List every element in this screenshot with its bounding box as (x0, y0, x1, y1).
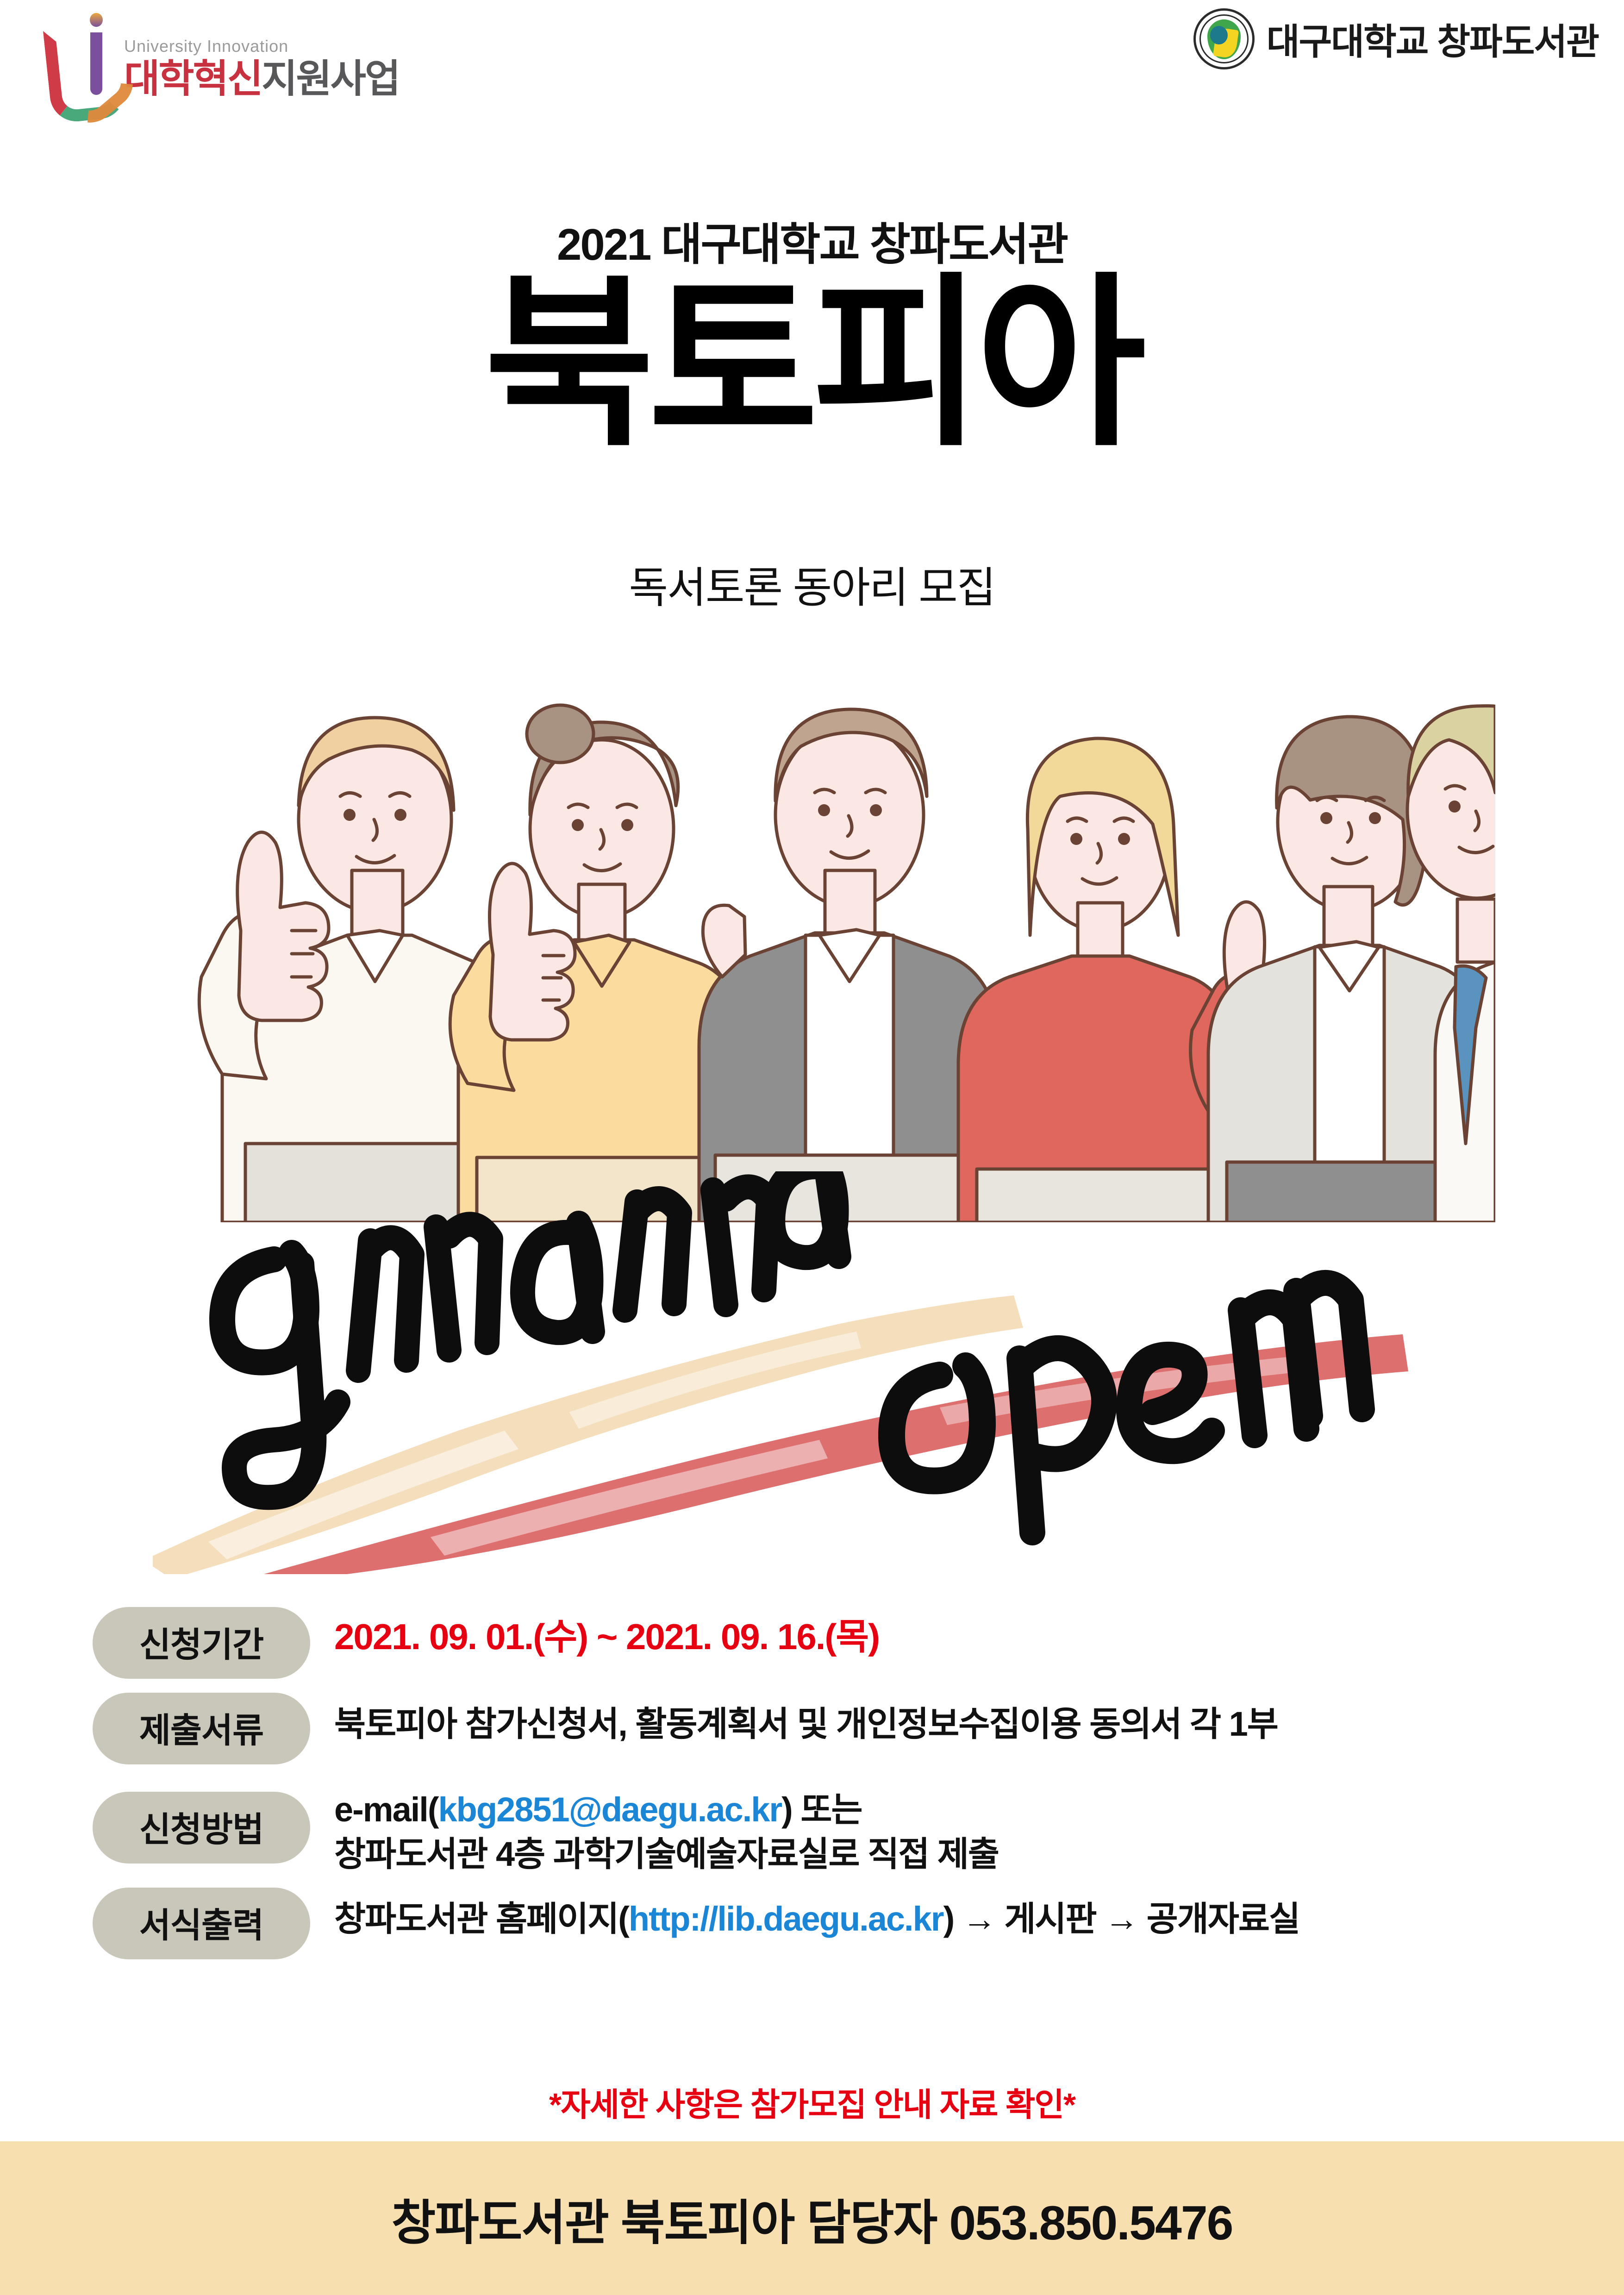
page-title: 북토피아 (0, 264, 1624, 464)
library-name-label: 대구대학교 창파도서관 (1267, 13, 1599, 65)
url-suffix: ) → 게시판 → 공개자료실 (943, 1900, 1300, 1938)
label-form-download: 서식출력 (93, 1888, 310, 1959)
contact-footer-bar: 창파도서관 북토피아 담당자 053.850.5476 (0, 2141, 1624, 2295)
logo-bar: University Innovation 대학혁신지원사업 대구대학교 창파도… (0, 0, 1624, 134)
info-row-how-to-apply: 신청방법 e-mail(kbg2851@daegu.ac.kr) 또는 창파도서… (93, 1778, 1551, 1876)
logo-korean-gray: 지원사업 (262, 57, 399, 100)
email-prefix: e-mail( (334, 1790, 438, 1829)
homepage-link[interactable]: http://lib.daegu.ac.kr (629, 1900, 943, 1938)
value-line-1: e-mail(kbg2851@daegu.ac.kr) 또는 (334, 1788, 1551, 1832)
grand-open-artwork (153, 1171, 1495, 1574)
page-subtitle: 독서토론 동아리 모집 (0, 553, 1624, 615)
email-suffix: ) 또는 (781, 1790, 862, 1829)
university-innovation-text: University Innovation 대학혁신지원사업 (124, 38, 399, 102)
people-illustration (153, 611, 1495, 1222)
logo-english-label: University Innovation (124, 38, 399, 55)
university-innovation-logo: University Innovation 대학혁신지원사업 (44, 9, 399, 102)
value-line: 북토피아 참가신청서, 활동계획서 및 개인정보수집이용 동의서 각 1부 (334, 1702, 1551, 1746)
info-table: 신청기간 2021. 09. 01.(수) ~ 2021. 09. 16.(목)… (93, 1604, 1551, 1973)
url-prefix: 창파도서관 홈페이지( (334, 1900, 629, 1938)
library-logo: 대구대학교 창파도서관 (1193, 8, 1599, 69)
info-row-required-documents: 제출서류 북토피아 참가신청서, 활동계획서 및 개인정보수집이용 동의서 각 … (93, 1693, 1551, 1764)
info-row-form-download: 서식출력 창파도서관 홈페이지(http://lib.daegu.ac.kr) … (93, 1888, 1551, 1959)
logo-korean-label: 대학혁신지원사업 (124, 59, 399, 98)
value-form-download: 창파도서관 홈페이지(http://lib.daegu.ac.kr) → 게시판… (334, 1888, 1551, 1941)
label-application-period: 신청기간 (93, 1607, 310, 1679)
additional-note: *자세한 사항은 참가모집 안내 자료 확인* (0, 2079, 1624, 2126)
value-line: 2021. 09. 01.(수) ~ 2021. 09. 16.(목) (334, 1613, 1551, 1660)
info-row-application-period: 신청기간 2021. 09. 01.(수) ~ 2021. 09. 16.(목) (93, 1604, 1551, 1679)
email-link[interactable]: kbg2851@daegu.ac.kr (438, 1790, 782, 1829)
value-how-to-apply: e-mail(kbg2851@daegu.ac.kr) 또는 창파도서관 4층 … (334, 1778, 1551, 1876)
value-line: 창파도서관 홈페이지(http://lib.daegu.ac.kr) → 게시판… (334, 1897, 1551, 1941)
value-application-period: 2021. 09. 01.(수) ~ 2021. 09. 16.(목) (334, 1604, 1551, 1660)
logo-korean-red: 대학혁신 (124, 57, 262, 100)
value-required-documents: 북토피아 참가신청서, 활동계획서 및 개인정보수집이용 동의서 각 1부 (334, 1693, 1551, 1746)
uj-monogram-icon (44, 9, 116, 102)
label-how-to-apply: 신청방법 (93, 1792, 310, 1864)
label-required-documents: 제출서류 (93, 1693, 310, 1764)
daegu-university-seal-icon (1193, 8, 1255, 69)
value-line-2: 창파도서관 4층 과학기술예술자료실로 직접 제출 (334, 1832, 1551, 1876)
contact-footer-text: 창파도서관 북토피아 담당자 053.850.5476 (391, 2183, 1232, 2253)
poster-canvas: University Innovation 대학혁신지원사업 대구대학교 창파도… (0, 0, 1624, 2295)
